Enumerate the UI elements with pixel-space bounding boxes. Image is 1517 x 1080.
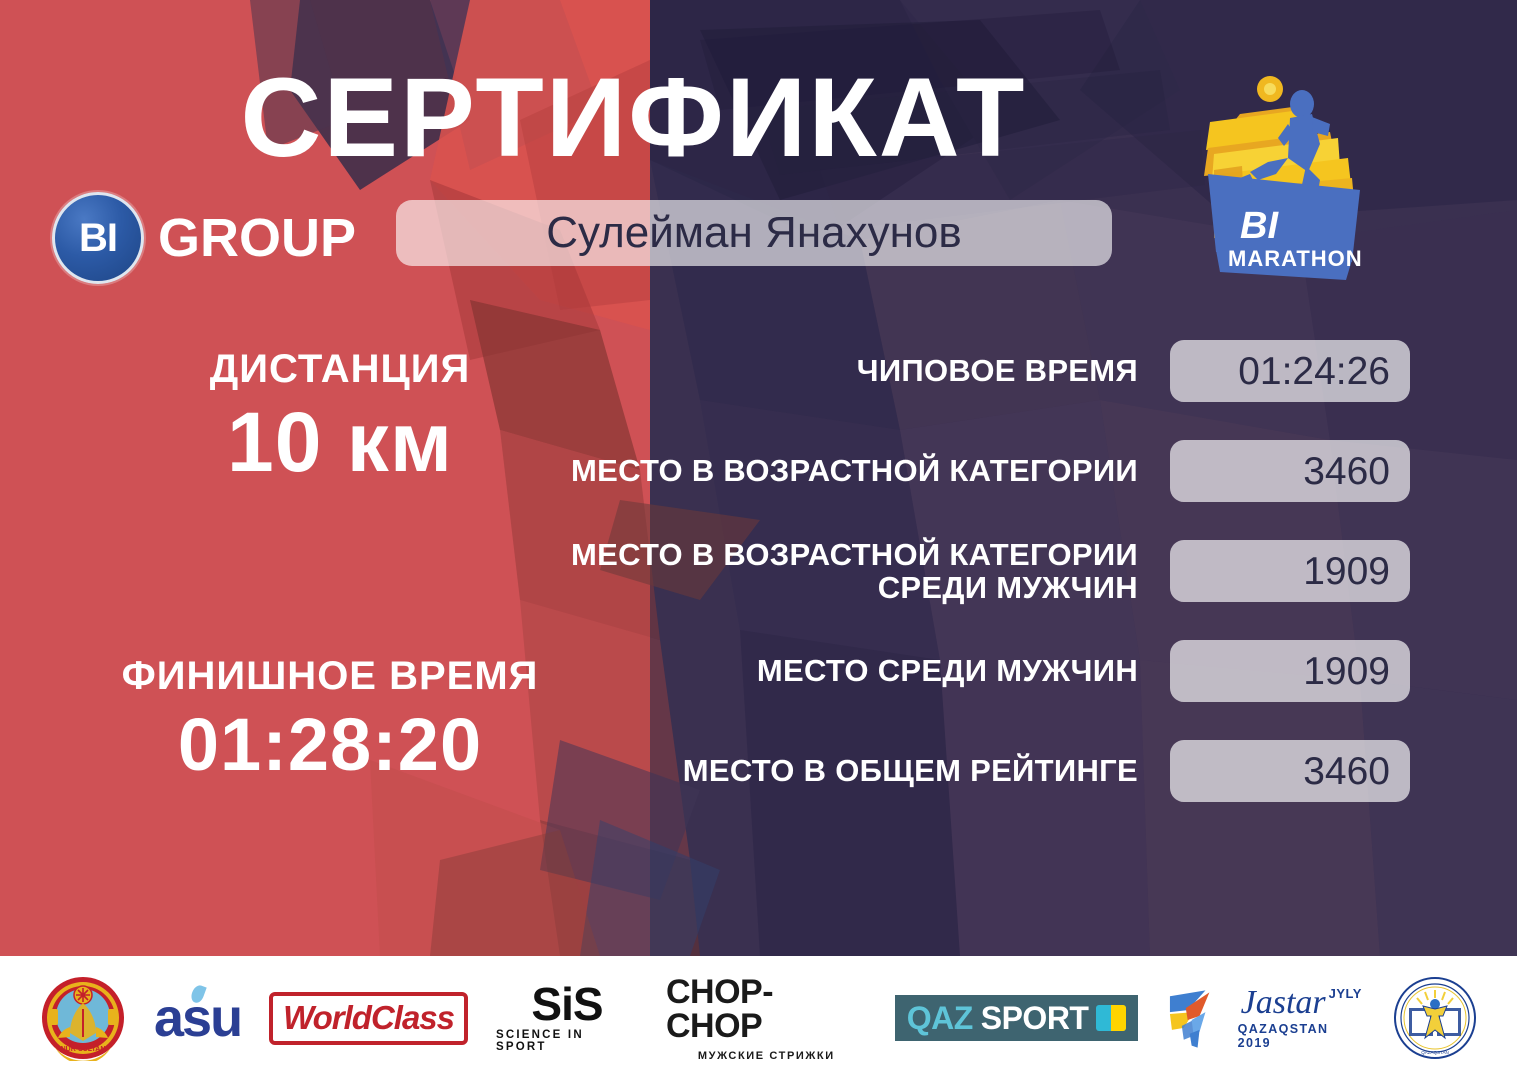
result-label: МЕСТО СРЕДИ МУЖЧИН (530, 654, 1170, 687)
athlete-name-badge: Сулейман Янахунов (396, 200, 1112, 266)
result-value-badge: 3460 (1170, 440, 1410, 502)
chop-chop-tagline: МУЖСКИЕ СТРИЖКИ (698, 1050, 835, 1062)
result-label: МЕСТО В ВОЗРАСТНОЙ КАТЕГОРИИ СРЕДИ МУЖЧИ… (530, 538, 1170, 604)
sponsor-jastar-jyly: Jastar JYLY QAZAQSTAN 2019 (1166, 972, 1365, 1064)
sponsor-nur-sultan-emblem: NUR-SULTAN (40, 972, 126, 1064)
nur-sultan-label: NUR-SULTAN (61, 1046, 106, 1053)
asu-wordmark: asu (154, 991, 241, 1045)
sis-logo-block: SiS SCIENCE IN SPORT (496, 983, 638, 1054)
sponsor-asu: asu (154, 972, 241, 1064)
svg-text:MARATHON: MARATHON (1228, 246, 1363, 271)
sis-wordmark: SiS (531, 983, 602, 1027)
jastar-subtitle: QAZAQSTAN 2019 (1238, 1022, 1365, 1050)
result-row: МЕСТО В ВОЗРАСТНОЙ КАТЕГОРИИ СРЕДИ МУЖЧИ… (480, 540, 1410, 602)
bi-marathon-logo: BI MARATHON (1180, 62, 1380, 302)
result-value-badge: 01:24:26 (1170, 340, 1410, 402)
sponsor-chop-chop: CHOP-CHOP МУЖСКИЕ СТРИЖКИ (666, 972, 867, 1064)
chop-chop-wordmark: CHOP-CHOP (666, 975, 867, 1043)
world-class-text-a: World (283, 999, 371, 1036)
result-label: МЕСТО В ВОЗРАСТНОЙ КАТЕГОРИИ (530, 454, 1170, 487)
qazsport-text-b: SPORT (981, 1002, 1089, 1034)
certificate-artwork-panel: BI GROUP СЕРТИФИКАТ Сулейман Янахунов (0, 0, 1517, 956)
world-class-wordmark: WorldClass (269, 992, 468, 1045)
result-value: 1909 (1303, 652, 1390, 691)
nur-sultan-emblem-icon: NUR-SULTAN (40, 975, 126, 1061)
result-row: ЧИПОВОЕ ВРЕМЯ 01:24:26 (480, 340, 1410, 402)
sponsor-sis: SiS SCIENCE IN SPORT (496, 972, 638, 1064)
qazsport-flag-icon (1096, 1005, 1126, 1031)
result-value-badge: 3460 (1170, 740, 1410, 802)
sponsor-world-class: WorldClass (269, 972, 468, 1064)
result-label: ЧИПОВОЕ ВРЕМЯ (530, 354, 1170, 387)
sponsor-ministry-emblem: QAZAQSTAN (1393, 972, 1477, 1064)
jastar-text-block: Jastar JYLY QAZAQSTAN 2019 (1238, 986, 1365, 1050)
bi-marathon-artwork: BI MARATHON (1180, 62, 1380, 302)
result-rows: ЧИПОВОЕ ВРЕМЯ 01:24:26 МЕСТО В ВОЗРАСТНО… (480, 340, 1410, 840)
jastar-jyly-text: JYLY (1329, 986, 1362, 1001)
bi-group-logo: BI GROUP (52, 192, 356, 284)
result-value-badge: 1909 (1170, 540, 1410, 602)
result-value: 01:24:26 (1238, 352, 1390, 391)
athlete-name: Сулейман Янахунов (546, 211, 961, 255)
sponsor-strip: NUR-SULTAN asu WorldClass SiS SCIENCE IN… (0, 956, 1517, 1080)
sis-tagline: SCIENCE IN SPORT (496, 1029, 638, 1053)
bi-group-wordmark: GROUP (158, 211, 356, 265)
world-class-text-b: Class (371, 999, 454, 1036)
result-value: 3460 (1303, 452, 1390, 491)
sponsor-qazsport: QAZ SPORT (895, 972, 1139, 1064)
certificate-page: BI GROUP СЕРТИФИКАТ Сулейман Янахунов (0, 0, 1517, 1080)
result-value-badge: 1909 (1170, 640, 1410, 702)
result-value: 1909 (1303, 552, 1390, 591)
result-label: МЕСТО В ОБЩЕМ РЕЙТИНГЕ (530, 754, 1170, 787)
qazsport-text-a: QAZ (907, 1002, 973, 1034)
result-row: МЕСТО СРЕДИ МУЖЧИН 1909 (480, 640, 1410, 702)
jastar-logo-block: Jastar JYLY QAZAQSTAN 2019 (1166, 986, 1365, 1050)
svg-text:BI: BI (1240, 205, 1279, 247)
jastar-arrow-icon (1166, 986, 1229, 1050)
jastar-wordmark: Jastar (1241, 986, 1326, 1020)
ministry-emblem-icon: QAZAQSTAN (1393, 976, 1477, 1060)
chop-chop-logo-block: CHOP-CHOP МУЖСКИЕ СТРИЖКИ (666, 975, 867, 1062)
result-row: МЕСТО В ОБЩЕМ РЕЙТИНГЕ 3460 (480, 740, 1410, 802)
bi-group-mark: BI (79, 218, 117, 258)
svg-text:QAZAQSTAN: QAZAQSTAN (1421, 1050, 1448, 1055)
bi-group-disc-icon: BI (52, 192, 144, 284)
qazsport-logo-block: QAZ SPORT (895, 995, 1139, 1041)
result-value: 3460 (1303, 752, 1390, 791)
result-row: МЕСТО В ВОЗРАСТНОЙ КАТЕГОРИИ 3460 (480, 440, 1410, 502)
